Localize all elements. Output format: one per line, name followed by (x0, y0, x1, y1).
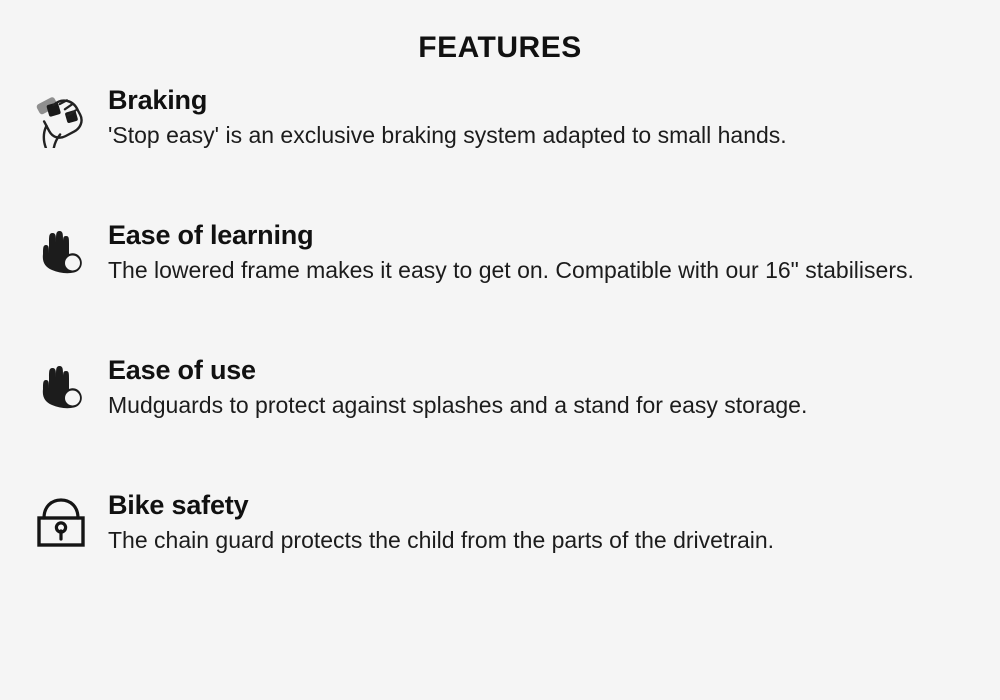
feature-text: Ease of learning The lowered frame makes… (94, 219, 980, 287)
list-item: Ease of use Mudguards to protect against… (0, 354, 1000, 489)
feature-text: Bike safety The chain guard protects the… (94, 489, 980, 557)
list-item: Ease of learning The lowered frame makes… (0, 219, 1000, 354)
feature-heading: Ease of use (108, 354, 980, 386)
feature-body: The chain guard protects the child from … (108, 523, 918, 557)
feature-heading: Braking (108, 84, 980, 116)
page-title: FEATURES (0, 0, 1000, 66)
feature-body: 'Stop easy' is an exclusive braking syst… (108, 118, 918, 152)
list-item: Braking 'Stop easy' is an exclusive brak… (0, 84, 1000, 219)
feature-text: Braking 'Stop easy' is an exclusive brak… (94, 84, 980, 152)
ok-hand-icon (28, 219, 94, 285)
padlock-icon (28, 489, 94, 555)
ok-hand-icon (28, 354, 94, 420)
feature-text: Ease of use Mudguards to protect against… (94, 354, 980, 422)
features-panel: FEATURES (0, 0, 1000, 700)
list-item: Bike safety The chain guard protects the… (0, 489, 1000, 624)
feature-body: Mudguards to protect against splashes an… (108, 388, 918, 422)
feature-body: The lowered frame makes it easy to get o… (108, 253, 918, 287)
feature-heading: Ease of learning (108, 219, 980, 251)
hand-brake-lever-icon (28, 84, 94, 150)
feature-heading: Bike safety (108, 489, 980, 521)
feature-list: Braking 'Stop easy' is an exclusive brak… (0, 84, 1000, 624)
